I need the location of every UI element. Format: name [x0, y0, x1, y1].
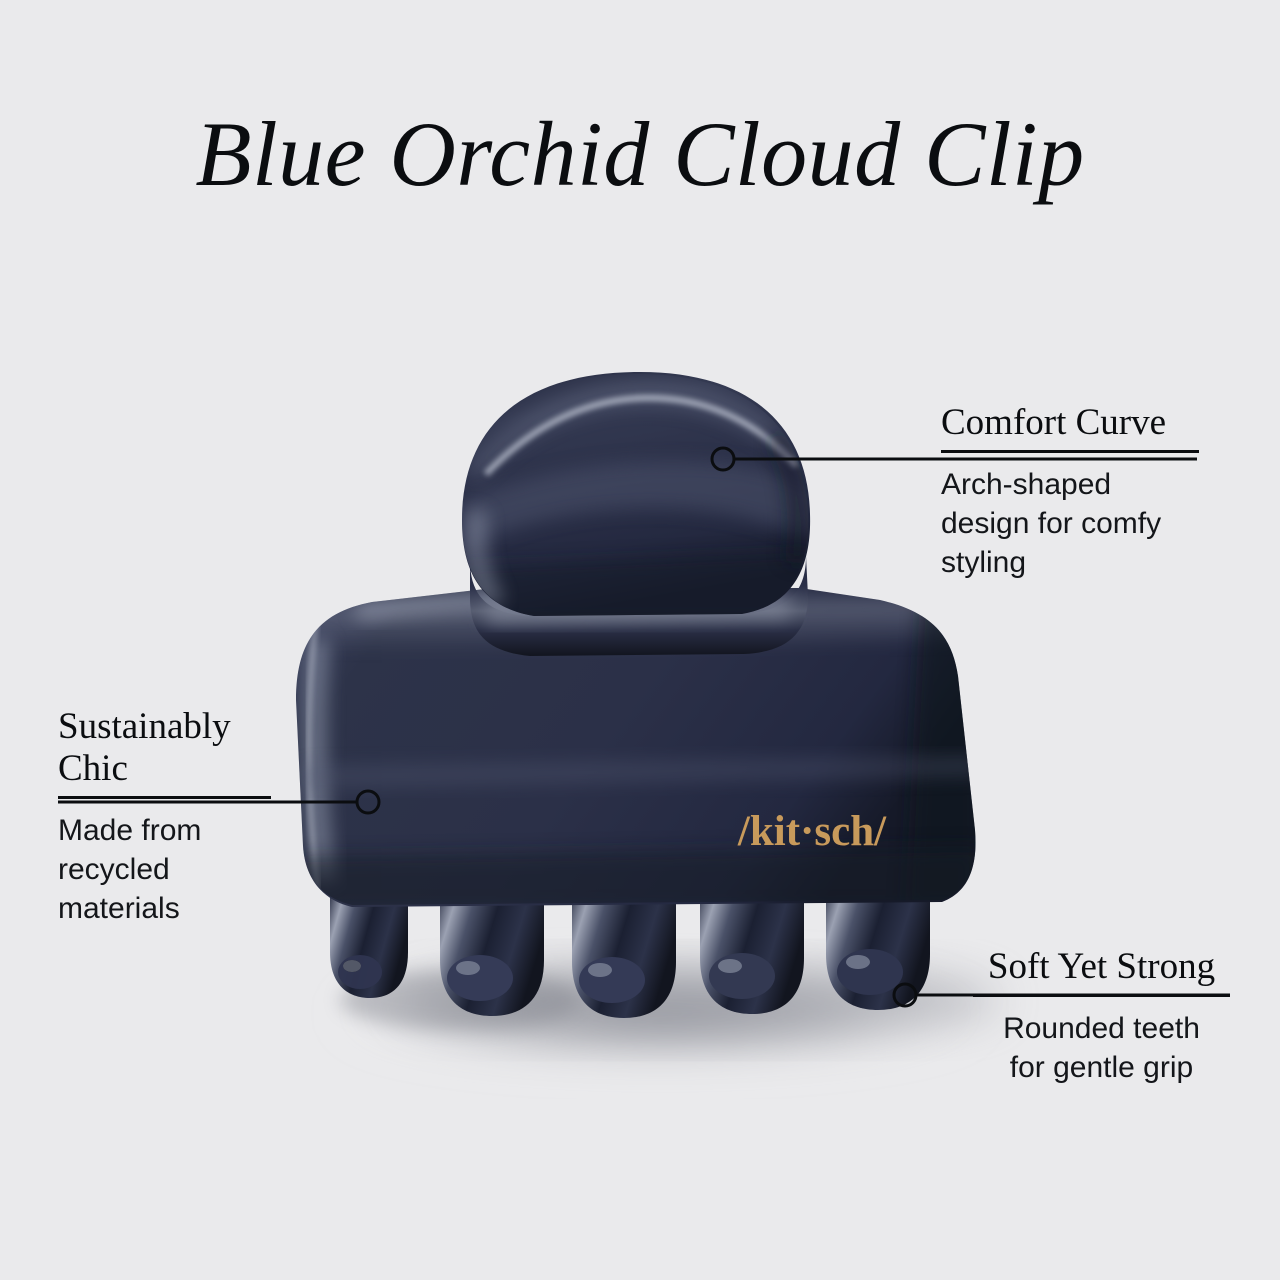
callout-rule	[973, 994, 1230, 997]
callout-rule	[58, 796, 271, 799]
callout-body: Arch-shaped design for comfy styling	[941, 465, 1199, 582]
callout-comfort-curve: Comfort Curve Arch-shaped design for com…	[941, 402, 1199, 582]
callout-body: Rounded teeth for gentle grip	[973, 1009, 1230, 1087]
callout-soft-yet-strong: Soft Yet Strong Rounded teeth for gentle…	[973, 946, 1230, 1087]
callout-rule	[941, 450, 1199, 453]
product-infographic: Blue Orchid Cloud Clip	[0, 0, 1280, 1280]
claw-clip-illustration: /kit·sch/	[0, 0, 1280, 1280]
callout-sustainably-chic: Sustainably Chic Made from recycled mate…	[58, 706, 271, 928]
product-image: /kit·sch/	[0, 0, 1280, 1280]
callout-heading: Soft Yet Strong	[973, 946, 1230, 988]
brand-logo: /kit·sch/	[737, 808, 887, 855]
clip-dome	[462, 372, 812, 624]
callout-heading: Sustainably Chic	[58, 706, 271, 790]
callout-body: Made from recycled materials	[58, 811, 271, 928]
callout-heading: Comfort Curve	[941, 402, 1199, 444]
